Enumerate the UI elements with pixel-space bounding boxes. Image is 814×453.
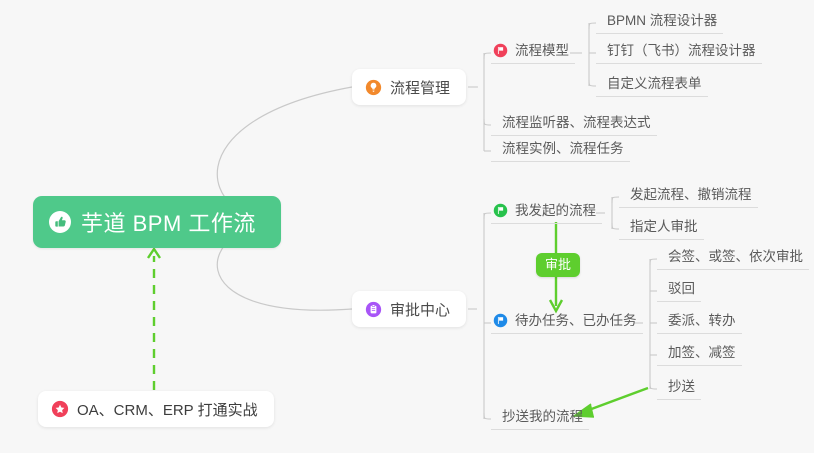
node-dingtalk-designer[interactable]: 钉钉（飞书）流程设计器 xyxy=(596,42,762,64)
node-cc-to-me-label: 抄送我的流程 xyxy=(502,407,583,427)
node-my-initiated[interactable]: 我发起的流程 xyxy=(491,202,602,224)
edge-model-c1 xyxy=(589,23,596,29)
lightbulb-icon xyxy=(365,79,382,96)
root-node[interactable]: 芋道 BPM 工作流 xyxy=(33,196,281,248)
clipboard-icon xyxy=(365,301,382,318)
node-countersign[interactable]: 会签、或签、依次审批 xyxy=(657,248,809,270)
node-dingtalk-designer-label: 钉钉（飞书）流程设计器 xyxy=(607,41,756,61)
flag-icon-red xyxy=(493,43,508,58)
node-listener-expression-label: 流程监听器、流程表达式 xyxy=(502,113,651,133)
edge-ac-to-mine xyxy=(484,213,491,219)
node-todo-done-tasks[interactable]: 待办任务、已办任务 xyxy=(491,312,643,334)
node-process-management[interactable]: 流程管理 xyxy=(352,69,466,105)
node-approval-center-label: 审批中心 xyxy=(390,299,450,320)
edge-todo-c5 xyxy=(650,383,657,389)
node-process-model[interactable]: 流程模型 xyxy=(491,42,575,64)
edge-pm-to-model xyxy=(484,53,491,59)
approve-tag: 审批 xyxy=(536,253,580,277)
node-cc-to-me[interactable]: 抄送我的流程 xyxy=(491,408,589,430)
node-add-remove-sign[interactable]: 加签、减签 xyxy=(657,344,742,366)
star-icon xyxy=(51,400,69,418)
root-node-label: 芋道 BPM 工作流 xyxy=(81,206,256,238)
node-custom-form-label: 自定义流程表单 xyxy=(607,74,702,94)
node-bpmn-designer[interactable]: BPMN 流程设计器 xyxy=(596,12,723,34)
node-reject[interactable]: 驳回 xyxy=(657,280,701,302)
node-delegate-transfer-label: 委派、转办 xyxy=(668,311,736,331)
node-listener-expression[interactable]: 流程监听器、流程表达式 xyxy=(491,114,657,136)
edge-todo-c1 xyxy=(650,259,657,265)
node-designated-approval-label: 指定人审批 xyxy=(630,217,698,237)
node-custom-form[interactable]: 自定义流程表单 xyxy=(596,75,708,97)
node-carbon-copy-label: 抄送 xyxy=(668,377,695,397)
edge-ac-to-cc xyxy=(484,413,491,419)
node-start-cancel-process[interactable]: 发起流程、撤销流程 xyxy=(619,186,758,208)
edge-model-c3 xyxy=(589,80,596,86)
edge-mine-c2 xyxy=(612,223,619,229)
thumbs-up-icon xyxy=(48,210,72,234)
node-todo-done-tasks-label: 待办任务、已办任务 xyxy=(515,311,637,331)
node-designated-approval[interactable]: 指定人审批 xyxy=(619,218,704,240)
node-instance-task[interactable]: 流程实例、流程任务 xyxy=(491,140,630,162)
flag-icon-blue xyxy=(493,313,508,328)
node-add-remove-sign-label: 加签、减签 xyxy=(668,343,736,363)
node-oa-crm-erp[interactable]: OA、CRM、ERP 打通实战 xyxy=(38,391,274,427)
node-approval-center[interactable]: 审批中心 xyxy=(352,291,466,327)
edge-mine-c1 xyxy=(612,197,619,203)
node-carbon-copy[interactable]: 抄送 xyxy=(657,378,701,400)
mindmap-canvas: 芋道 BPM 工作流 流程管理 审批中心 xyxy=(0,0,814,453)
node-reject-label: 驳回 xyxy=(668,279,695,299)
node-instance-task-label: 流程实例、流程任务 xyxy=(502,139,624,159)
node-oa-crm-erp-label: OA、CRM、ERP 打通实战 xyxy=(77,399,258,420)
arrow-mine-to-todo-head xyxy=(550,300,562,311)
edge-pm-to-listener xyxy=(484,119,491,125)
node-my-initiated-label: 我发起的流程 xyxy=(515,201,596,221)
arrow-oa-to-root-head xyxy=(148,249,160,258)
node-start-cancel-process-label: 发起流程、撤销流程 xyxy=(630,185,752,205)
node-delegate-transfer[interactable]: 委派、转办 xyxy=(657,312,742,334)
node-countersign-label: 会签、或签、依次审批 xyxy=(668,247,803,267)
node-process-model-label: 流程模型 xyxy=(515,41,569,61)
node-process-management-label: 流程管理 xyxy=(390,77,450,98)
flag-icon-green xyxy=(493,203,508,218)
node-bpmn-designer-label: BPMN 流程设计器 xyxy=(607,11,717,31)
approve-tag-label: 审批 xyxy=(545,257,571,272)
